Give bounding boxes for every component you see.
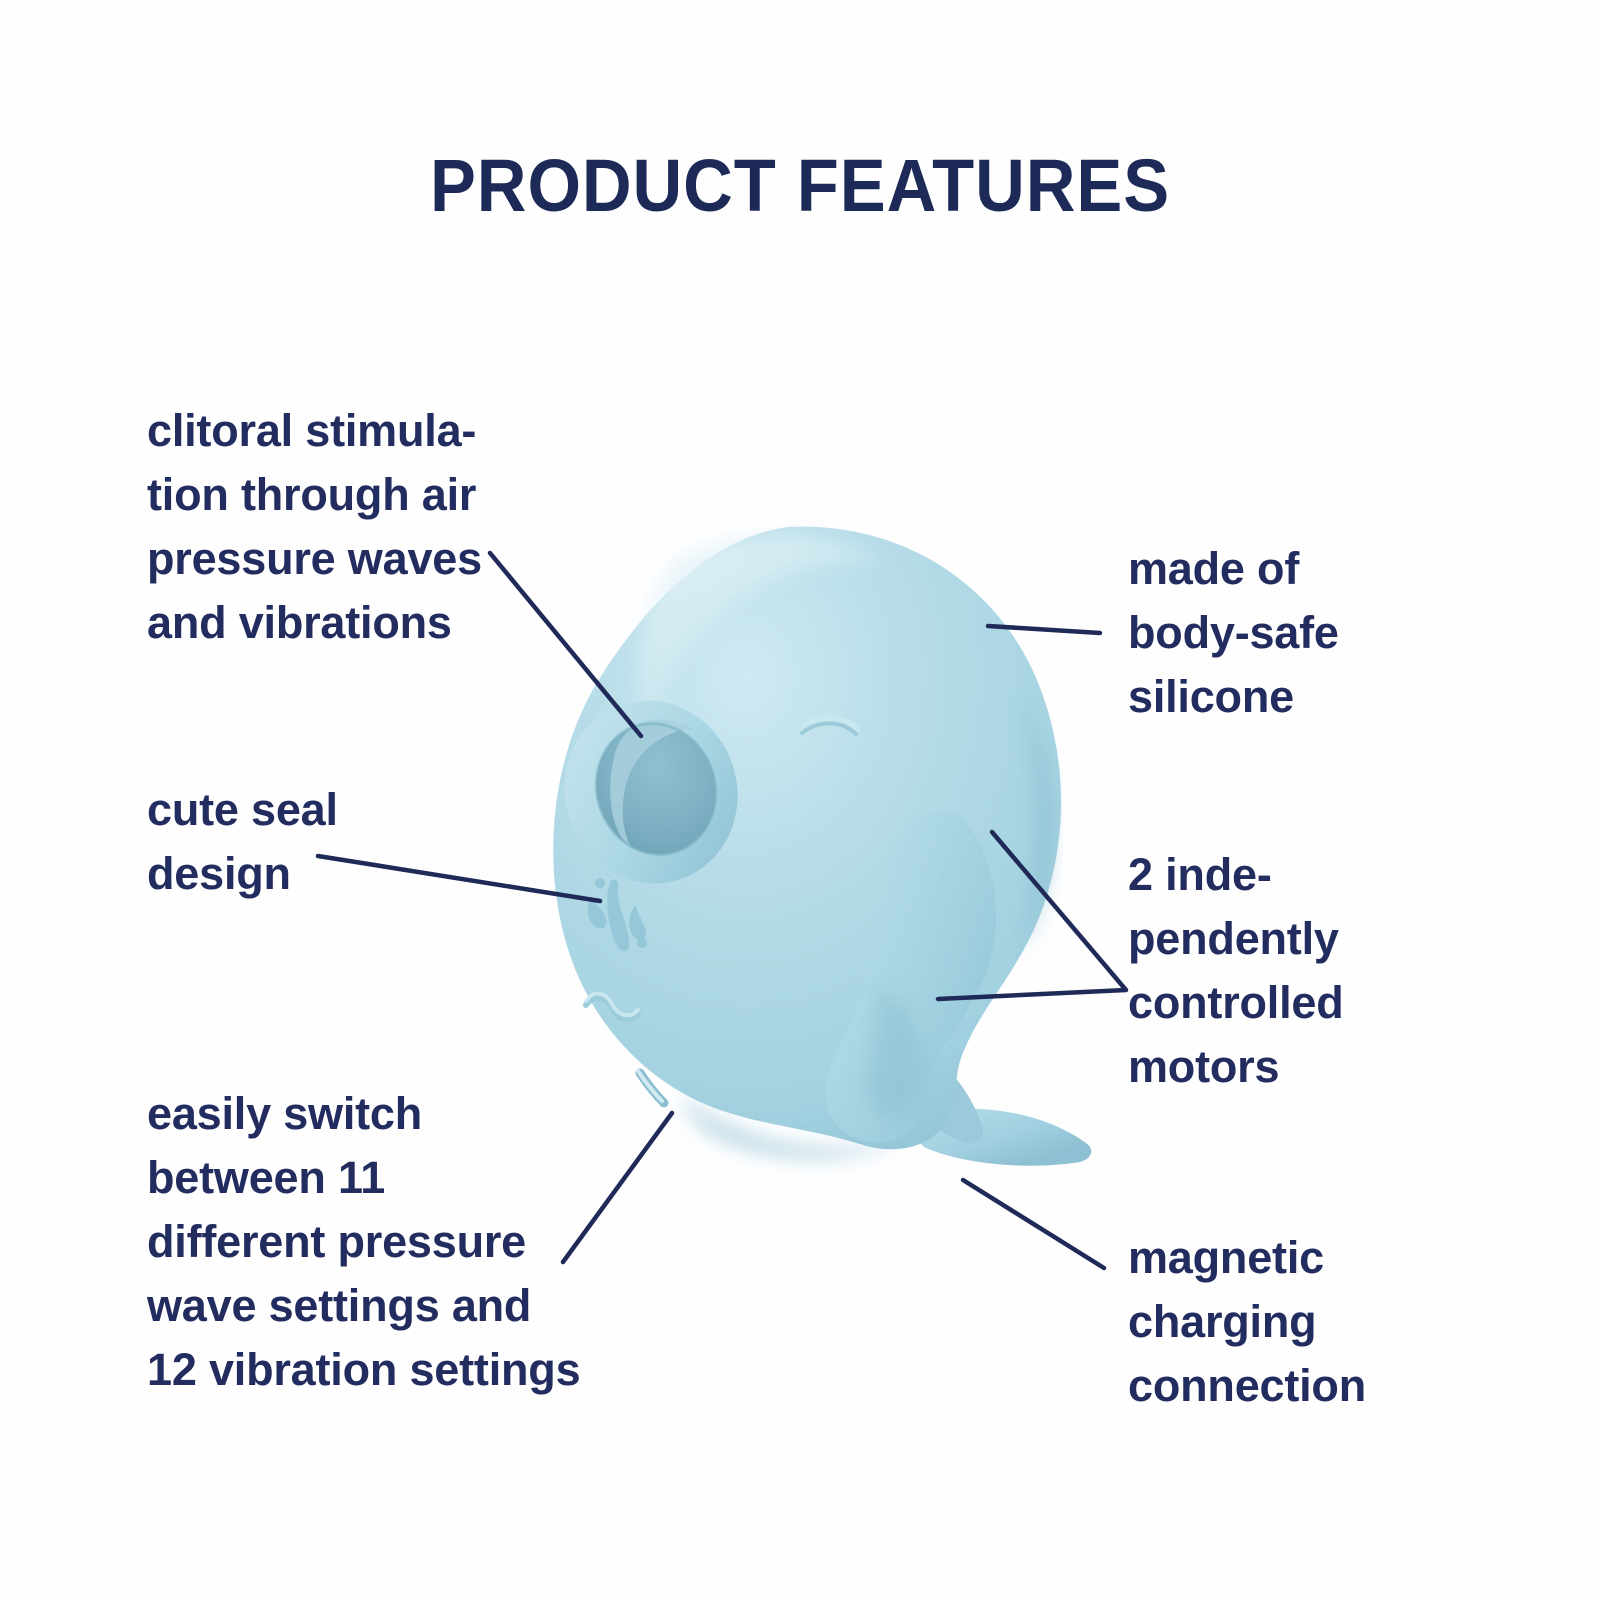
- product-illustration: [530, 515, 1110, 1205]
- product-features-infographic: PRODUCT FEATURES: [0, 0, 1600, 1600]
- callout-magnetic-charging: magnetic charging connection: [1128, 1226, 1428, 1418]
- callout-clitoral-stimulation: clitoral stimula- tion through air press…: [147, 399, 567, 655]
- callout-pressure-wave-settings: easily switch between 11 different press…: [147, 1082, 617, 1402]
- callout-two-motors: 2 inde- pendently controlled motors: [1128, 843, 1408, 1099]
- page-title: PRODUCT FEATURES: [56, 143, 1544, 228]
- callout-body-safe-silicone: made of body-safe silicone: [1128, 537, 1428, 729]
- callout-cute-seal-design: cute seal design: [147, 778, 527, 906]
